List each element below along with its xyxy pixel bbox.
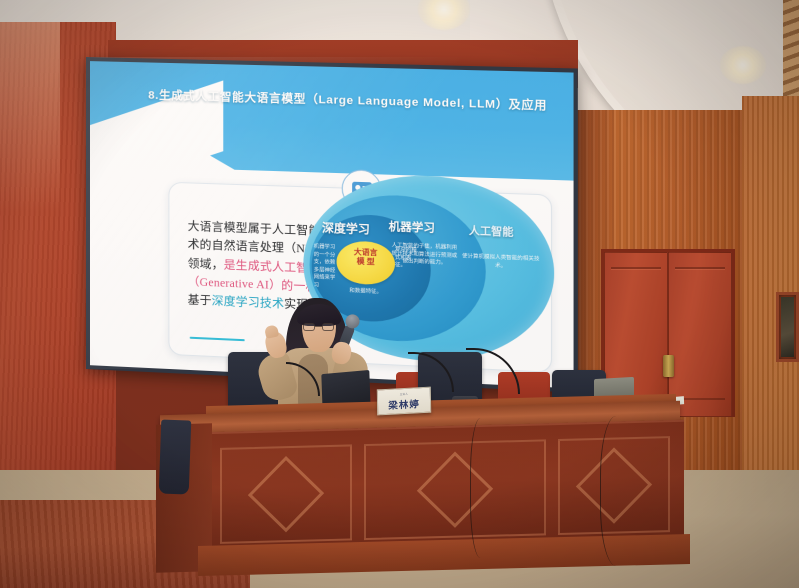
nameplate: 主讲人 梁林婷 <box>377 387 431 416</box>
nameplate-subtitle: 主讲人 <box>400 391 408 395</box>
door-leaf-right[interactable] <box>668 252 732 417</box>
lecture-hall-scene: 8.生成式人工智能大语言模型（Large Language Model, LLM… <box>0 0 799 588</box>
ceiling-light-icon <box>720 46 766 84</box>
framed-picture <box>776 292 799 362</box>
venn-label-ai: 人工智能 <box>469 223 514 240</box>
cable <box>470 418 496 558</box>
venn-label-ml: 机器学习 <box>389 218 435 236</box>
nameplate-name: 梁林婷 <box>388 396 420 412</box>
diamond-carving <box>248 456 324 532</box>
venn-desc-dl-right: 复杂的模式和表征。 <box>395 247 420 271</box>
podium-panel <box>220 444 352 543</box>
venn-label-llm: 大语言 模 型 <box>341 247 391 268</box>
accent-rule <box>190 336 245 341</box>
door-handle-icon[interactable] <box>663 355 674 377</box>
podium-panel <box>364 439 546 540</box>
venn-label-dl: 深度学习 <box>322 219 370 237</box>
draped-cloth <box>159 419 192 494</box>
cable <box>600 416 640 566</box>
glasses-icon <box>303 323 334 331</box>
venn-desc-dl-left: 机器学习的一个分支，依赖多层神经网络来学习 <box>314 244 337 291</box>
venn-desc-ai: 使计算机模拟人类智能的相关技术。 <box>460 253 541 272</box>
